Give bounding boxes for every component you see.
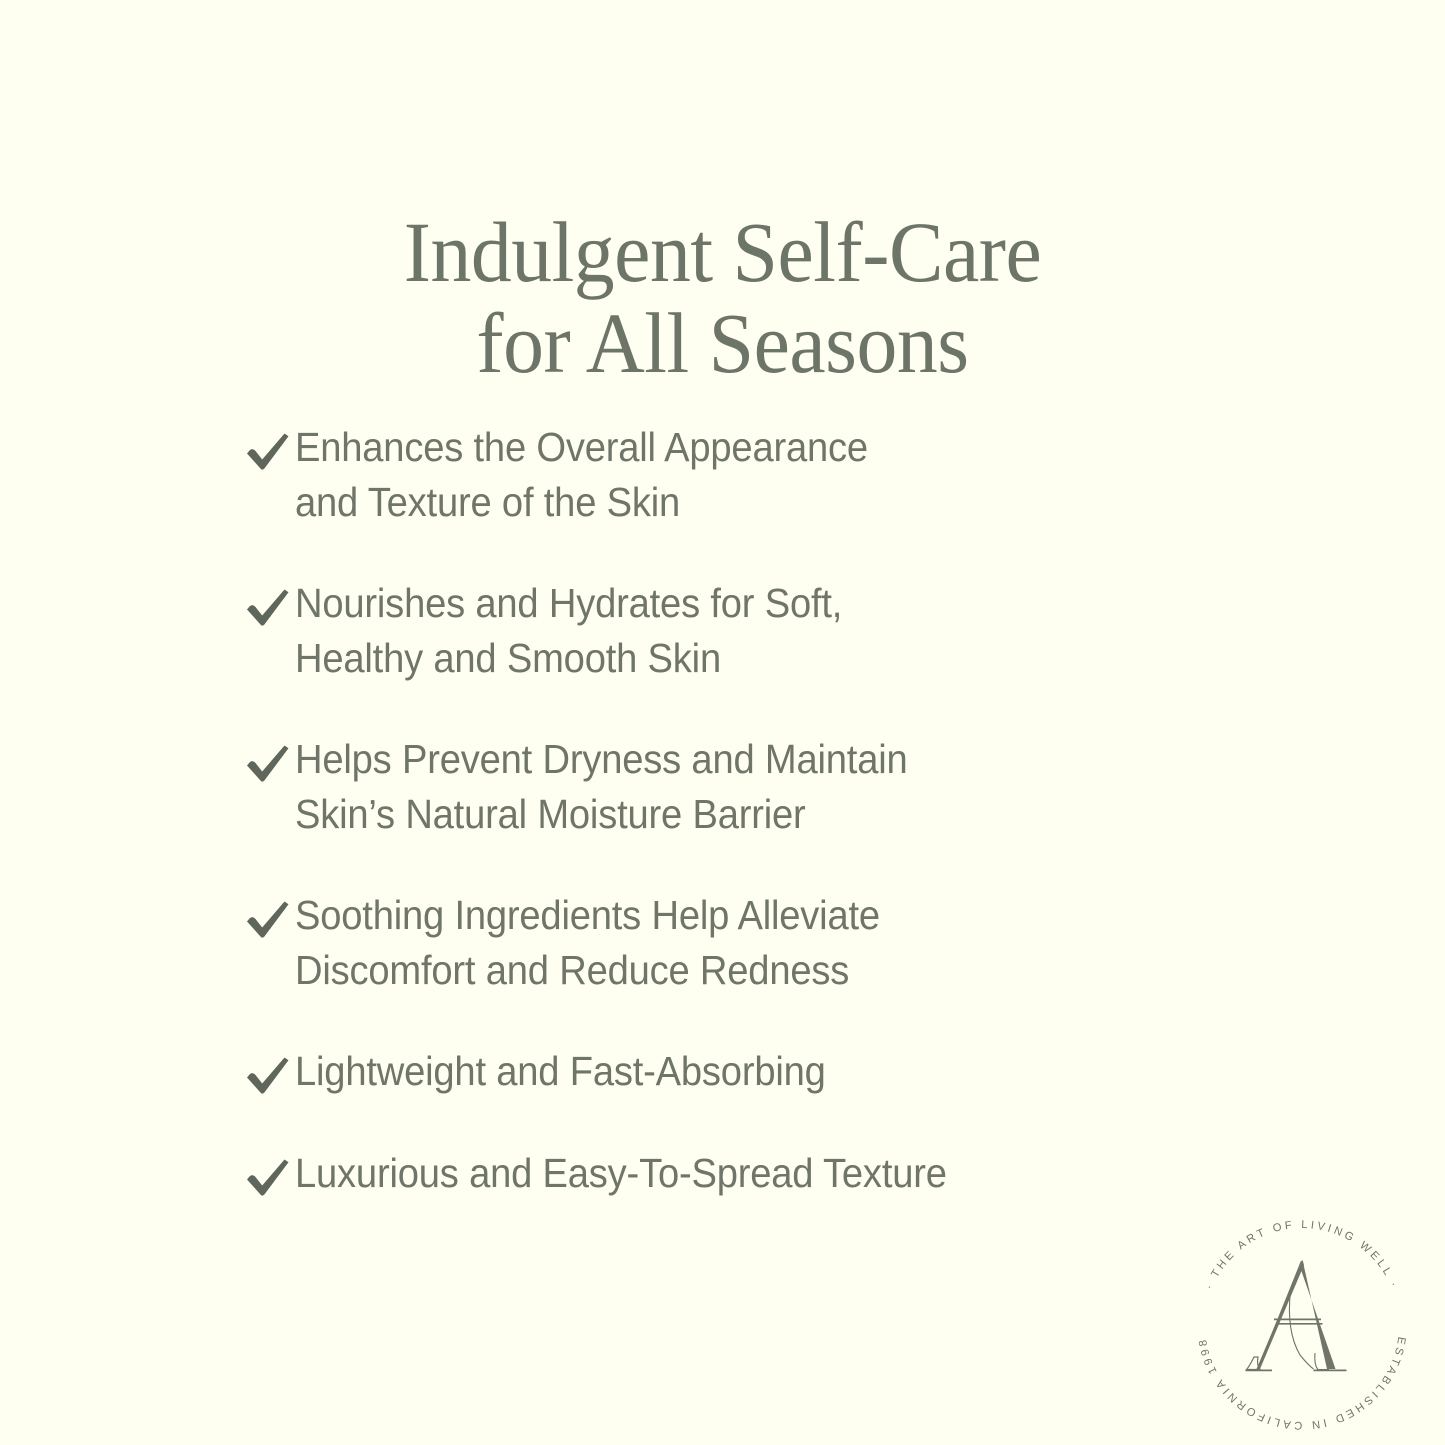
list-item: Nourishes and Hydrates for Soft, Healthy… <box>243 576 1203 685</box>
checkmark-icon <box>243 741 295 785</box>
list-item: Lightweight and Fast-Absorbing <box>243 1044 1203 1099</box>
list-item: Soothing Ingredients Help Alleviate Disc… <box>243 888 1203 997</box>
page-title-line-1: Indulgent Self-Care <box>36 210 1409 295</box>
list-item-label: Enhances the Overall Appearance and Text… <box>295 420 1139 529</box>
brand-badge: · THE ART OF LIVING WELL · ESTABLISHED I… <box>1182 1205 1422 1445</box>
list-item-label: Lightweight and Fast-Absorbing <box>295 1044 1139 1099</box>
badge-ring-bottom-text: ESTABLISHED IN CALIFORNIA 1998 <box>1197 1336 1408 1431</box>
checkmark-icon <box>243 1155 295 1199</box>
list-item: Helps Prevent Dryness and Maintain Skin’… <box>243 732 1203 841</box>
page-title-line-2: for All Seasons <box>36 301 1409 386</box>
checkmark-icon <box>243 429 295 473</box>
page-title: Indulgent Self-Care for All Seasons <box>36 210 1409 386</box>
monogram-letter-a <box>1246 1260 1347 1371</box>
benefits-list: Enhances the Overall Appearance and Text… <box>243 420 1203 1200</box>
list-item-label: Nourishes and Hydrates for Soft, Healthy… <box>295 576 1139 685</box>
checkmark-icon <box>243 897 295 941</box>
badge-ring-top-text: · THE ART OF LIVING WELL · <box>1203 1219 1401 1291</box>
poster-canvas: Indulgent Self-Care for All Seasons Enha… <box>0 0 1445 1445</box>
list-item: Enhances the Overall Appearance and Text… <box>243 420 1203 529</box>
checkmark-icon <box>243 1053 295 1097</box>
list-item-label: Soothing Ingredients Help Alleviate Disc… <box>295 888 1139 997</box>
checkmark-icon <box>243 585 295 629</box>
list-item-label: Luxurious and Easy-To-Spread Texture <box>295 1146 1139 1201</box>
list-item-label: Helps Prevent Dryness and Maintain Skin’… <box>295 732 1139 841</box>
list-item: Luxurious and Easy-To-Spread Texture <box>243 1146 1203 1201</box>
